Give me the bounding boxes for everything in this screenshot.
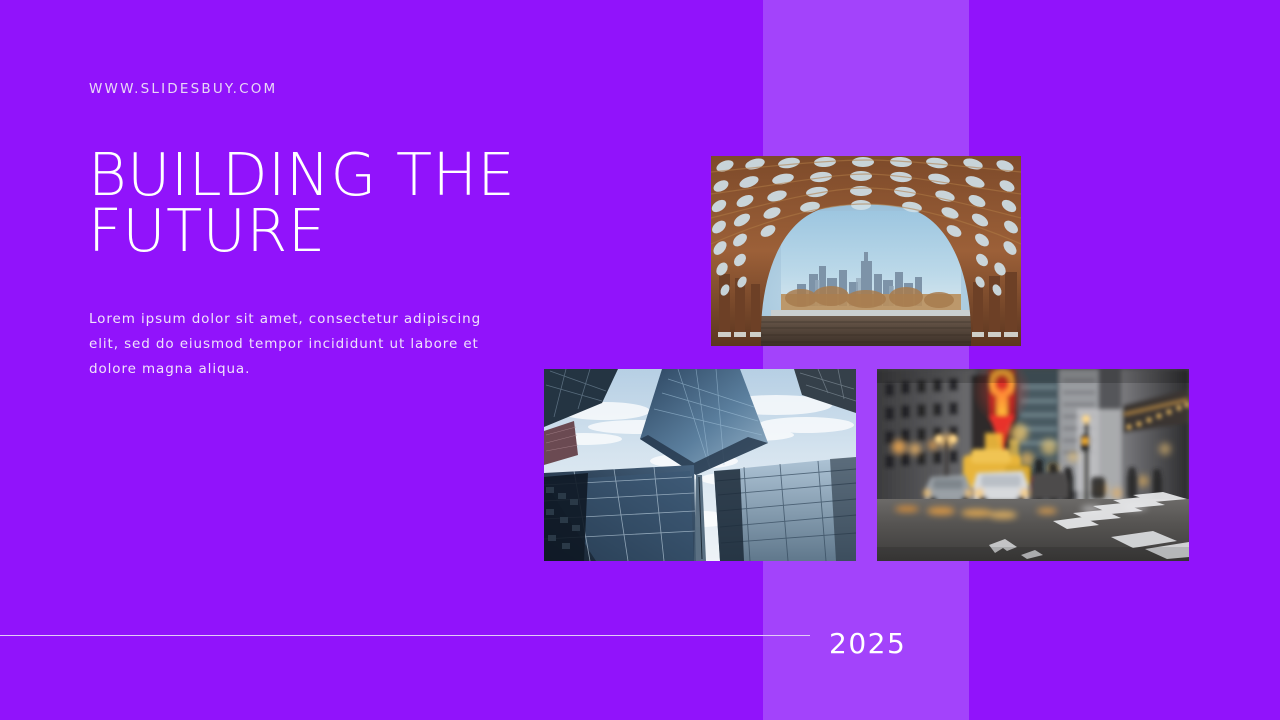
skyscrapers-upward-photo — [544, 369, 856, 561]
website-url: WWW.SLIDESBUY.COM — [89, 81, 277, 97]
year-label: 2025 — [829, 627, 906, 660]
background-accent-band — [763, 0, 969, 720]
pavilion-skyline-image — [711, 156, 1021, 346]
skyscrapers-upward-image — [544, 369, 856, 561]
page-title: BUILDING THE FUTURE — [88, 147, 518, 259]
city-street-dusk-image — [877, 369, 1189, 561]
footer-divider — [0, 635, 810, 636]
body-paragraph: Lorem ipsum dolor sit amet, consectetur … — [89, 307, 489, 382]
presentation-slide: WWW.SLIDESBUY.COM BUILDING THE FUTURE Lo… — [0, 0, 1280, 720]
city-street-dusk-photo — [877, 369, 1189, 561]
pavilion-skyline-photo — [711, 156, 1021, 346]
